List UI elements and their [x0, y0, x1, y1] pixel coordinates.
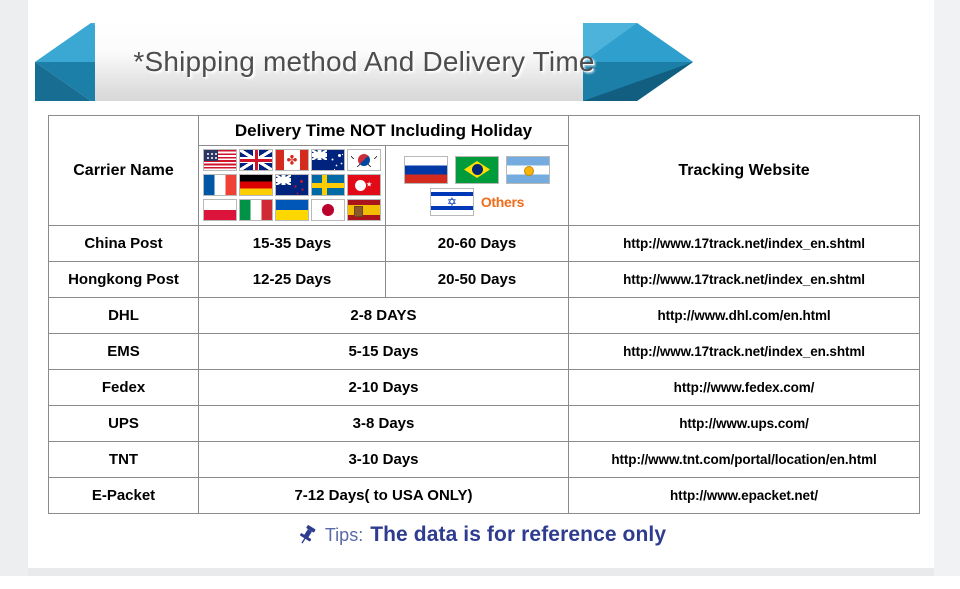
cell-delivery-merged: 7-12 Days( to USA ONLY)	[199, 478, 569, 514]
argentina-flag-icon	[506, 156, 550, 184]
frame-edge-left	[0, 0, 28, 576]
tips-label: Tips:	[325, 525, 363, 546]
banner: *Shipping method And Delivery Time	[35, 23, 693, 101]
cell-tracking-url[interactable]: http://www.epacket.net/	[569, 478, 920, 514]
australia-flag-icon	[311, 149, 345, 171]
header-flags-secondary: Others	[386, 146, 569, 226]
table-row: China Post 15-35 Days 20-60 Days http://…	[49, 226, 920, 262]
cell-tracking-url[interactable]: http://www.dhl.com/en.html	[569, 298, 920, 334]
pushpin-icon	[296, 524, 318, 546]
cell-tracking-url[interactable]: http://www.ups.com/	[569, 406, 920, 442]
uk-flag-icon	[239, 149, 273, 171]
sweden-flag-icon	[311, 174, 345, 196]
table-row: EMS 5-15 Days http://www.17track.net/ind…	[49, 334, 920, 370]
cell-carrier: EMS	[49, 334, 199, 370]
flag-grid-secondary: Others	[386, 156, 568, 216]
content-area: *Shipping method And Delivery Time Carri…	[28, 0, 934, 568]
flag-grid-primary	[199, 149, 385, 222]
canada-flag-icon	[275, 149, 309, 171]
cell-tracking-url[interactable]: http://www.fedex.com/	[569, 370, 920, 406]
cell-delivery-merged: 5-15 Days	[199, 334, 569, 370]
brazil-flag-icon	[455, 156, 499, 184]
cell-carrier: E-Packet	[49, 478, 199, 514]
tips-bar: Tips: The data is for reference only	[28, 512, 934, 558]
cell-delivery-primary: 12-25 Days	[199, 262, 386, 298]
flag-row-secondary-1	[404, 156, 550, 184]
cell-tracking-url[interactable]: http://www.tnt.com/portal/location/en.ht…	[569, 442, 920, 478]
header-delivery-time: Delivery Time NOT Including Holiday	[199, 116, 569, 146]
cell-tracking-url[interactable]: http://www.17track.net/index_en.shtml	[569, 226, 920, 262]
cell-carrier: DHL	[49, 298, 199, 334]
italy-flag-icon	[239, 199, 273, 221]
cell-delivery-merged: 2-10 Days	[199, 370, 569, 406]
page-title: *Shipping method And Delivery Time	[95, 23, 633, 101]
table-row: DHL 2-8 DAYS http://www.dhl.com/en.html	[49, 298, 920, 334]
header-carrier-name: Carrier Name	[49, 116, 199, 226]
table-row: Hongkong Post 12-25 Days 20-50 Days http…	[49, 262, 920, 298]
shipping-table: Carrier Name Delivery Time NOT Including…	[48, 115, 920, 514]
south-korea-flag-icon	[347, 149, 381, 171]
ukraine-flag-icon	[275, 199, 309, 221]
poland-flag-icon	[203, 199, 237, 221]
others-label: Others	[481, 194, 524, 210]
germany-flag-icon	[239, 174, 273, 196]
israel-flag-icon	[430, 188, 474, 216]
table-row: E-Packet 7-12 Days( to USA ONLY) http://…	[49, 478, 920, 514]
shipping-info-page: *Shipping method And Delivery Time Carri…	[0, 0, 960, 589]
cell-delivery-secondary: 20-60 Days	[386, 226, 569, 262]
table-row: UPS 3-8 Days http://www.ups.com/	[49, 406, 920, 442]
cell-carrier: UPS	[49, 406, 199, 442]
table-header-row-1: Carrier Name Delivery Time NOT Including…	[49, 116, 920, 146]
japan-flag-icon	[311, 199, 345, 221]
cell-tracking-url[interactable]: http://www.17track.net/index_en.shtml	[569, 334, 920, 370]
table-row: TNT 3-10 Days http://www.tnt.com/portal/…	[49, 442, 920, 478]
cell-carrier: TNT	[49, 442, 199, 478]
cell-carrier: Fedex	[49, 370, 199, 406]
cell-delivery-secondary: 20-50 Days	[386, 262, 569, 298]
turkey-flag-icon	[347, 174, 381, 196]
frame-under-strip	[0, 576, 960, 589]
header-flags-primary	[199, 146, 386, 226]
usa-flag-icon	[203, 149, 237, 171]
france-flag-icon	[203, 174, 237, 196]
flag-row-secondary-2: Others	[430, 188, 524, 216]
frame-edge-right	[934, 0, 960, 576]
cell-carrier: Hongkong Post	[49, 262, 199, 298]
tips-message: The data is for reference only	[370, 523, 666, 547]
table-row: Fedex 2-10 Days http://www.fedex.com/	[49, 370, 920, 406]
russia-flag-icon	[404, 156, 448, 184]
new-zealand-flag-icon	[275, 174, 309, 196]
cell-carrier: China Post	[49, 226, 199, 262]
cell-delivery-merged: 3-10 Days	[199, 442, 569, 478]
cell-delivery-merged: 2-8 DAYS	[199, 298, 569, 334]
header-tracking-website: Tracking Website	[569, 116, 920, 226]
cell-delivery-merged: 3-8 Days	[199, 406, 569, 442]
cell-delivery-primary: 15-35 Days	[199, 226, 386, 262]
spain-flag-icon	[347, 199, 381, 221]
cell-tracking-url[interactable]: http://www.17track.net/index_en.shtml	[569, 262, 920, 298]
